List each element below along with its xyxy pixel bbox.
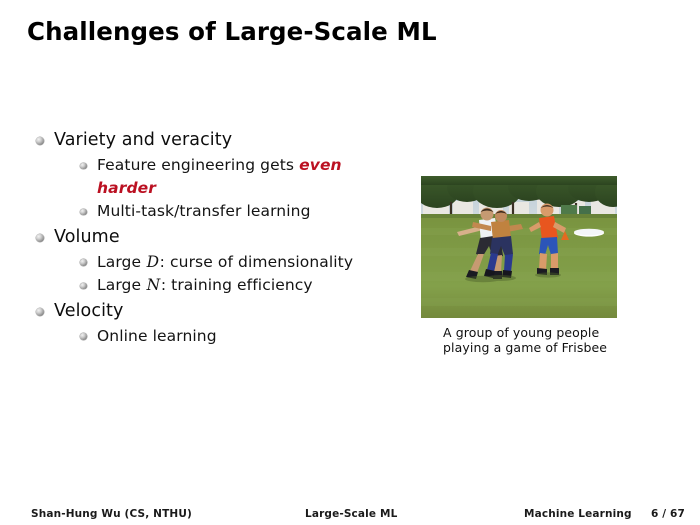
bullet-list: Variety and veracity Feature engineering… bbox=[32, 128, 402, 349]
sub-list: Feature engineering gets even harder Mul… bbox=[54, 154, 402, 223]
list-item-text: Large bbox=[97, 253, 146, 271]
figure: A group of young people playing a game o… bbox=[421, 176, 617, 355]
list-item: Feature engineering gets even harder bbox=[54, 154, 402, 199]
bullet-sphere-icon bbox=[80, 209, 87, 216]
list-item: Volume Large D: curse of dimensionality … bbox=[32, 225, 402, 297]
page-title: Challenges of Large-Scale ML bbox=[27, 17, 437, 46]
list-item-label: Variety and veracity bbox=[54, 130, 232, 150]
list-item-label: Online learning bbox=[97, 325, 402, 348]
footer-author: Shan-Hung Wu (CS, NTHU) bbox=[31, 508, 192, 520]
frisbee-photo bbox=[421, 176, 617, 318]
footer-course: Machine Learning bbox=[524, 508, 632, 520]
list-item: Variety and veracity Feature engineering… bbox=[32, 128, 402, 223]
frisbee-disc bbox=[574, 229, 604, 237]
list-item: Multi-task/transfer learning bbox=[54, 200, 402, 223]
math-variable-d: D bbox=[146, 253, 160, 271]
bullet-sphere-icon bbox=[80, 283, 87, 290]
bullet-sphere-icon bbox=[80, 163, 87, 170]
list-item-label: Multi-task/transfer learning bbox=[97, 200, 402, 223]
bullet-sphere-icon bbox=[36, 234, 44, 242]
sub-list: Large D: curse of dimensionality Large N… bbox=[54, 251, 402, 297]
list-item: Large D: curse of dimensionality bbox=[54, 251, 402, 274]
list-item-label: Feature engineering gets even harder bbox=[97, 154, 402, 199]
math-variable-n: N bbox=[146, 276, 161, 294]
list-item: Large N: training efficiency bbox=[54, 274, 402, 297]
slide-footer: Shan-Hung Wu (CS, NTHU) Large-Scale ML M… bbox=[0, 508, 700, 525]
list-item-text-tail: : curse of dimensionality bbox=[160, 253, 353, 271]
list-item-text: Large bbox=[97, 276, 146, 294]
list-item-label: Volume bbox=[54, 227, 120, 247]
list-item-label: Large N: training efficiency bbox=[97, 274, 402, 297]
list-item-label: Velocity bbox=[54, 301, 123, 321]
bullet-sphere-icon bbox=[36, 137, 44, 145]
list-item: Velocity Online learning bbox=[32, 299, 402, 348]
list-item-text-tail: : training efficiency bbox=[161, 276, 313, 294]
list-item-text: Feature engineering gets bbox=[97, 156, 299, 174]
bullet-sphere-icon bbox=[36, 308, 44, 316]
list-item: Online learning bbox=[54, 325, 402, 348]
list-item-label: Large D: curse of dimensionality bbox=[97, 251, 402, 274]
bullet-sphere-icon bbox=[80, 333, 87, 340]
frisbee-photo-graphic bbox=[421, 176, 617, 318]
sub-list: Online learning bbox=[54, 325, 402, 348]
figure-caption-line-1: A group of young people bbox=[443, 325, 617, 340]
bullet-sphere-icon bbox=[80, 259, 87, 266]
figure-caption-line-2: playing a game of Frisbee bbox=[443, 340, 617, 355]
footer-short-title: Large-Scale ML bbox=[305, 508, 397, 520]
footer-page-number: 6 / 67 bbox=[651, 508, 685, 520]
figure-caption: A group of young people playing a game o… bbox=[421, 325, 617, 355]
